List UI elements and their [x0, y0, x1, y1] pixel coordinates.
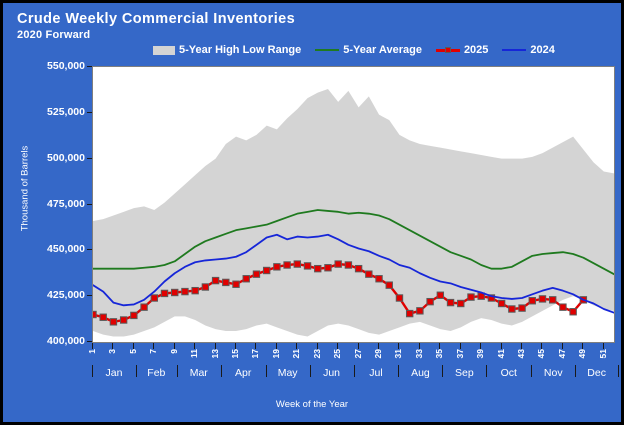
data-point-marker [458, 300, 464, 306]
month-separator [177, 365, 178, 377]
data-point-marker [560, 304, 566, 310]
data-point-marker [304, 263, 310, 269]
month-separator [221, 365, 222, 377]
x-axis: 1357911131517192123252729313335373941434… [92, 343, 615, 369]
chart-legend: 5-Year High Low Range 5-Year Average 202… [153, 44, 555, 56]
data-point-marker [120, 317, 126, 323]
legend-label-range: 5-Year High Low Range [179, 44, 301, 56]
month-label: Sep [455, 367, 474, 379]
x-tick-label: 17 [251, 349, 260, 358]
data-point-marker [212, 277, 218, 283]
data-point-marker [284, 262, 290, 268]
data-point-marker [386, 282, 392, 288]
data-point-marker [172, 289, 178, 295]
data-point-marker [376, 276, 382, 282]
month-separator [442, 365, 443, 377]
month-separator [531, 365, 532, 377]
data-point-marker [315, 265, 321, 271]
x-tick-label: 47 [558, 349, 567, 358]
data-point-marker [93, 311, 96, 317]
y-tick-label: 450,000 [47, 243, 85, 255]
x-tick-label: 9 [170, 349, 179, 354]
month-separator [486, 365, 487, 377]
month-separator [398, 365, 399, 377]
month-label: Mar [190, 367, 208, 379]
data-point-marker [274, 264, 280, 270]
x-tick-label: 35 [435, 349, 444, 358]
data-point-marker [325, 265, 331, 271]
y-tick-label: 500,000 [47, 152, 85, 164]
month-label: Aug [411, 367, 430, 379]
x-tick-label: 41 [497, 349, 506, 358]
legend-item-2025[interactable]: 2025 [436, 44, 488, 56]
x-tick-label: 3 [108, 349, 117, 354]
data-point-marker [243, 276, 249, 282]
x-tick-label: 15 [231, 349, 240, 358]
data-point-marker [539, 296, 545, 302]
legend-label-2025: 2025 [464, 44, 488, 56]
x-tick-label: 43 [517, 349, 526, 358]
month-label: Oct [501, 367, 517, 379]
data-point-marker [192, 287, 198, 293]
month-separator [618, 365, 619, 377]
data-point-marker [396, 295, 402, 301]
legend-item-2024[interactable]: 2024 [502, 44, 554, 56]
data-point-marker [427, 298, 433, 304]
month-separator [266, 365, 267, 377]
month-label: Dec [587, 367, 606, 379]
x-tick-label: 51 [599, 349, 608, 358]
data-point-marker [447, 299, 453, 305]
y-tick-label: 475,000 [47, 198, 85, 210]
x-tick-label: 23 [313, 349, 322, 358]
y-tick-label: 400,000 [47, 335, 85, 347]
x-tick-label: 11 [190, 349, 199, 358]
data-point-marker [345, 262, 351, 268]
data-point-marker [468, 294, 474, 300]
month-separator [575, 365, 576, 377]
data-point-marker [417, 308, 423, 314]
x-tick-label: 49 [578, 349, 587, 358]
blue-line-icon [502, 49, 526, 51]
plot-area [92, 66, 615, 343]
x-tick-label: 45 [537, 349, 546, 358]
data-point-marker [498, 300, 504, 306]
month-label: Nov [544, 367, 563, 379]
data-point-marker [509, 306, 515, 312]
data-point-marker [335, 261, 341, 267]
data-point-marker [437, 292, 443, 298]
data-point-marker [233, 281, 239, 287]
legend-item-range[interactable]: 5-Year High Low Range [153, 44, 301, 56]
x-tick-label: 25 [333, 349, 342, 358]
x-tick-label: 29 [374, 349, 383, 358]
data-point-marker [131, 312, 137, 318]
data-point-marker [182, 288, 188, 294]
x-tick-label: 37 [456, 349, 465, 358]
chart-canvas [93, 67, 614, 342]
x-tick-label: 21 [292, 349, 301, 358]
green-line-icon [315, 49, 339, 51]
data-point-marker [570, 309, 576, 315]
x-tick-label: 5 [129, 349, 138, 354]
data-point-marker [519, 305, 525, 311]
month-label: Jan [105, 367, 122, 379]
y-tick-label: 550,000 [47, 60, 85, 72]
x-axis-title: Week of the Year [3, 399, 621, 410]
data-point-marker [141, 304, 147, 310]
data-point-marker [110, 319, 116, 325]
month-label: Jul [369, 367, 382, 379]
x-tick-label: 13 [211, 349, 220, 358]
x-tick-label: 33 [415, 349, 424, 358]
legend-item-average[interactable]: 5-Year Average [315, 44, 422, 56]
x-tick-label: 7 [149, 349, 158, 354]
data-point-marker [223, 279, 229, 285]
data-point-marker [406, 310, 412, 316]
data-point-marker [263, 267, 269, 273]
chart-window: Crude Weekly Commercial Inventories 2020… [0, 0, 624, 425]
legend-label-2024: 2024 [530, 44, 554, 56]
x-tick-label: 39 [476, 349, 485, 358]
month-label: Jun [323, 367, 340, 379]
x-tick-label: 27 [354, 349, 363, 358]
data-point-marker [202, 284, 208, 290]
month-label: May [278, 367, 298, 379]
data-point-marker [529, 298, 535, 304]
data-point-marker [161, 290, 167, 296]
month-label: Apr [235, 367, 251, 379]
band-swatch-icon [153, 46, 175, 55]
legend-label-average: 5-Year Average [343, 44, 422, 56]
data-point-marker [355, 265, 361, 271]
month-separator [310, 365, 311, 377]
month-separator [354, 365, 355, 377]
month-separator [92, 365, 93, 377]
red-square-line-icon [436, 46, 460, 55]
month-separator [136, 365, 137, 377]
x-tick-label: 31 [394, 349, 403, 358]
x-tick-label: 19 [272, 349, 281, 358]
y-tick-label: 525,000 [47, 106, 85, 118]
data-point-marker [366, 271, 372, 277]
y-axis-ticks: 550,000525,000500,000475,000450,000425,0… [3, 3, 85, 425]
data-point-marker [253, 271, 259, 277]
month-label: Feb [147, 367, 165, 379]
data-point-marker [550, 297, 556, 303]
data-point-marker [100, 314, 106, 320]
data-point-marker [151, 295, 157, 301]
y-tick-label: 425,000 [47, 289, 85, 301]
data-point-marker [294, 261, 300, 267]
x-tick-label: 1 [88, 349, 97, 354]
